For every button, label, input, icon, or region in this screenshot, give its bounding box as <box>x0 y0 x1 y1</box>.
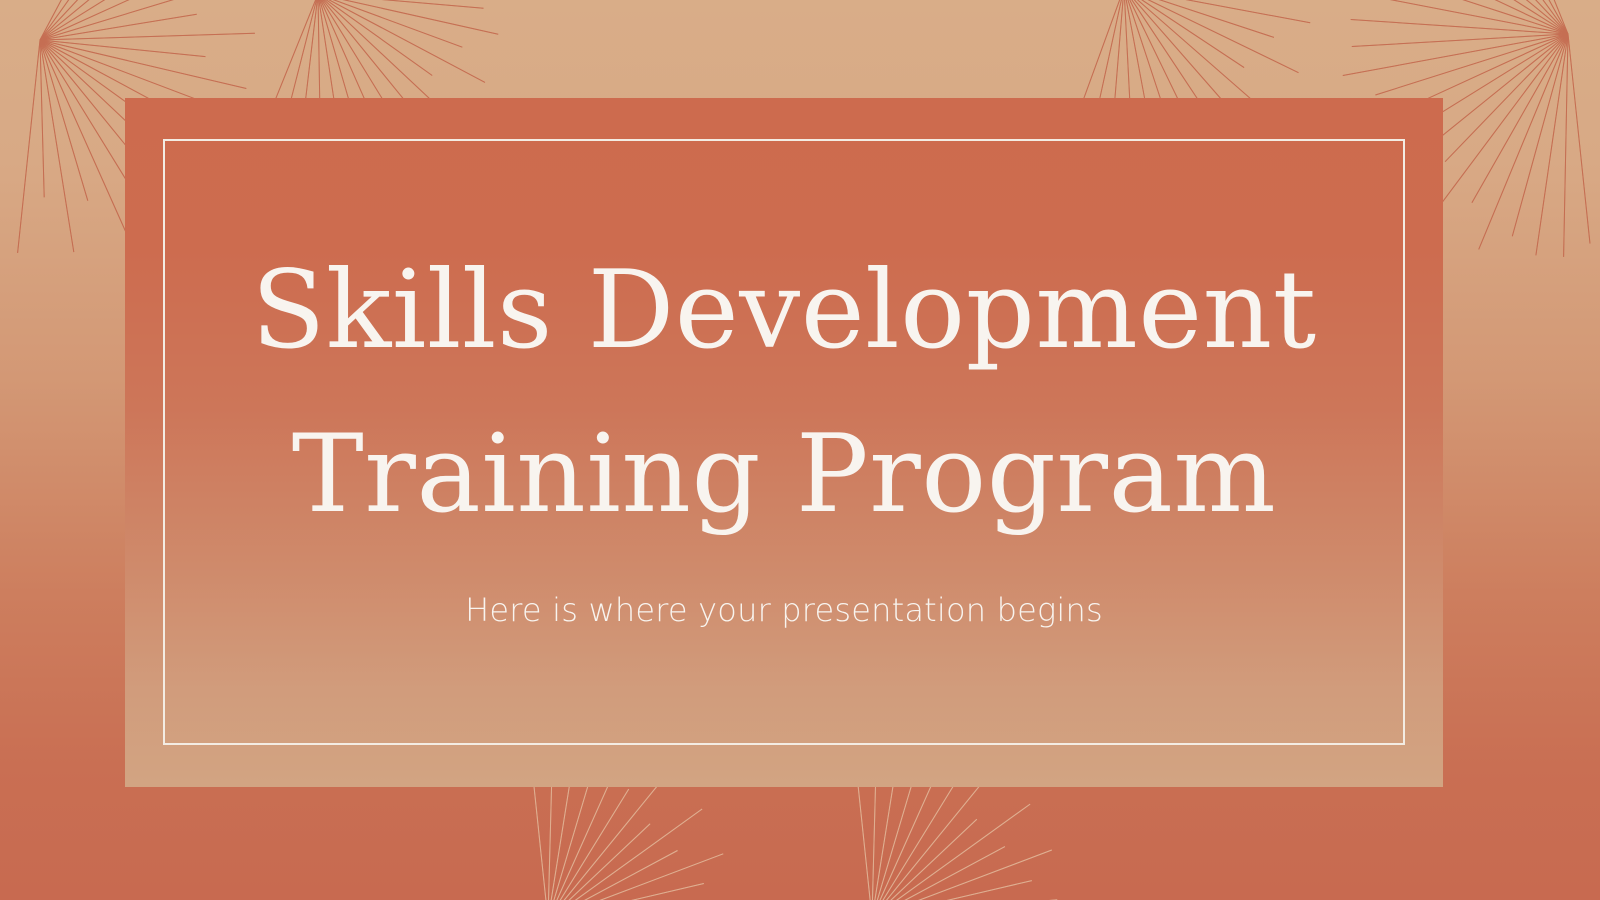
slide-subtitle: Here is where your presentation begins <box>465 591 1103 629</box>
title-line-1: Skills Development <box>251 248 1316 373</box>
page-title: Skills Development Training Program <box>194 229 1374 557</box>
title-line-2: Training Program <box>292 412 1277 537</box>
presentation-slide: Skills Development Training Program Here… <box>0 0 1600 900</box>
title-panel: Skills Development Training Program Here… <box>125 98 1443 787</box>
title-text-block: Skills Development Training Program Here… <box>125 98 1443 787</box>
